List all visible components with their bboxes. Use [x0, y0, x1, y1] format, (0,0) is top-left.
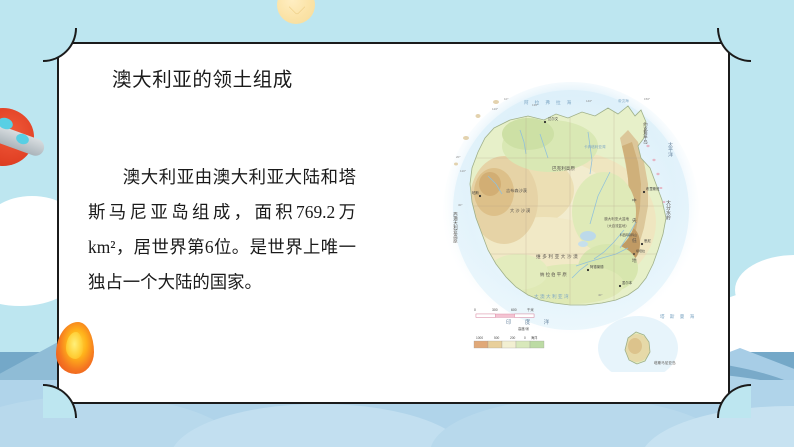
svg-text:阿德莱德: 阿德莱德 — [590, 264, 604, 269]
svg-text:纳拉伯平原: 纳拉伯平原 — [540, 271, 568, 278]
svg-text:墨尔本: 墨尔本 — [622, 280, 633, 285]
svg-text:大分水岭: 大分水岭 — [665, 199, 671, 221]
svg-text:科西阿斯科山: 科西阿斯科山 — [620, 233, 637, 237]
slide-canvas: 澳大利亚的领土组成 澳大利亚由澳大利亚大陆和塔斯马尼亚岛组成，面积769.2万k… — [0, 0, 794, 447]
svg-text:10°: 10° — [504, 97, 509, 101]
svg-text:40°: 40° — [598, 293, 603, 297]
svg-text:0: 0 — [524, 336, 526, 340]
svg-text:巴克利高原: 巴克利高原 — [552, 165, 575, 172]
svg-text:太平洋: 太平洋 — [667, 141, 673, 158]
svg-text:600: 600 — [511, 308, 517, 312]
svg-text:央: 央 — [632, 217, 637, 224]
svg-text:悉尼: 悉尼 — [644, 238, 651, 243]
svg-text:帝汶海: 帝汶海 — [618, 98, 629, 103]
svg-text:印 度 洋: 印 度 洋 — [506, 318, 555, 326]
svg-text:吉布森沙漠: 吉布森沙漠 — [506, 187, 528, 194]
svg-text:20°: 20° — [456, 155, 461, 159]
svg-text:达尔文: 达尔文 — [548, 116, 559, 121]
svg-text:高度/米: 高度/米 — [518, 326, 530, 331]
svg-text:大澳大利亚湾: 大澳大利亚湾 — [534, 293, 570, 300]
svg-text:大 沙 沙 漠: 大 沙 沙 漠 — [510, 207, 531, 214]
svg-text:塔 斯 曼 海: 塔 斯 曼 海 — [660, 313, 696, 320]
body-paragraph: 澳大利亚由澳大利亚大陆和塔斯马尼亚岛组成，面积769.2万km²，居世界第6位。… — [88, 160, 356, 300]
svg-text:珀斯: 珀斯 — [472, 190, 479, 195]
svg-text:布里斯班: 布里斯班 — [646, 186, 660, 191]
svg-text:110°: 110° — [460, 169, 467, 173]
flame-ornament-inner-icon — [66, 332, 83, 359]
svg-text:澳大利亚大盆地: 澳大利亚大盆地 — [604, 216, 630, 221]
svg-text:140°: 140° — [586, 99, 593, 103]
svg-text:约克角半岛: 约克角半岛 — [643, 121, 649, 146]
svg-text:（大自流盆地）: （大自流盆地） — [605, 223, 629, 228]
svg-text:0: 0 — [474, 308, 476, 312]
svg-text:低: 低 — [632, 237, 637, 244]
svg-text:200: 200 — [510, 336, 516, 340]
svg-text:塔斯马尼亚岛: 塔斯马尼亚岛 — [654, 360, 676, 365]
svg-text:地: 地 — [632, 257, 637, 263]
svg-text:30°: 30° — [458, 203, 463, 207]
svg-text:120°: 120° — [492, 107, 499, 111]
svg-text:海洋: 海洋 — [531, 335, 538, 340]
svg-text:500: 500 — [494, 336, 500, 340]
svg-text:维多利亚大沙漠: 维多利亚大沙漠 — [536, 253, 579, 260]
svg-text:卡奔塔利亚湾: 卡奔塔利亚湾 — [584, 144, 606, 149]
australia-physical-map: 阿 拉 弗 拉 海 帝汶海 卡奔塔利亚湾 约克角半岛 太平洋 大分水岭 巴克利高… — [432, 72, 710, 372]
svg-text:中: 中 — [632, 197, 637, 204]
svg-text:千米: 千米 — [527, 307, 534, 312]
page-title: 澳大利亚的领土组成 — [112, 63, 293, 92]
svg-text:1000: 1000 — [476, 336, 483, 340]
svg-text:300: 300 — [492, 308, 498, 312]
svg-text:150°: 150° — [644, 97, 651, 101]
svg-text:堪培拉: 堪培拉 — [636, 248, 645, 253]
svg-text:130°: 130° — [532, 103, 539, 107]
svg-text:西澳大利亚高原: 西澳大利亚高原 — [453, 212, 459, 243]
